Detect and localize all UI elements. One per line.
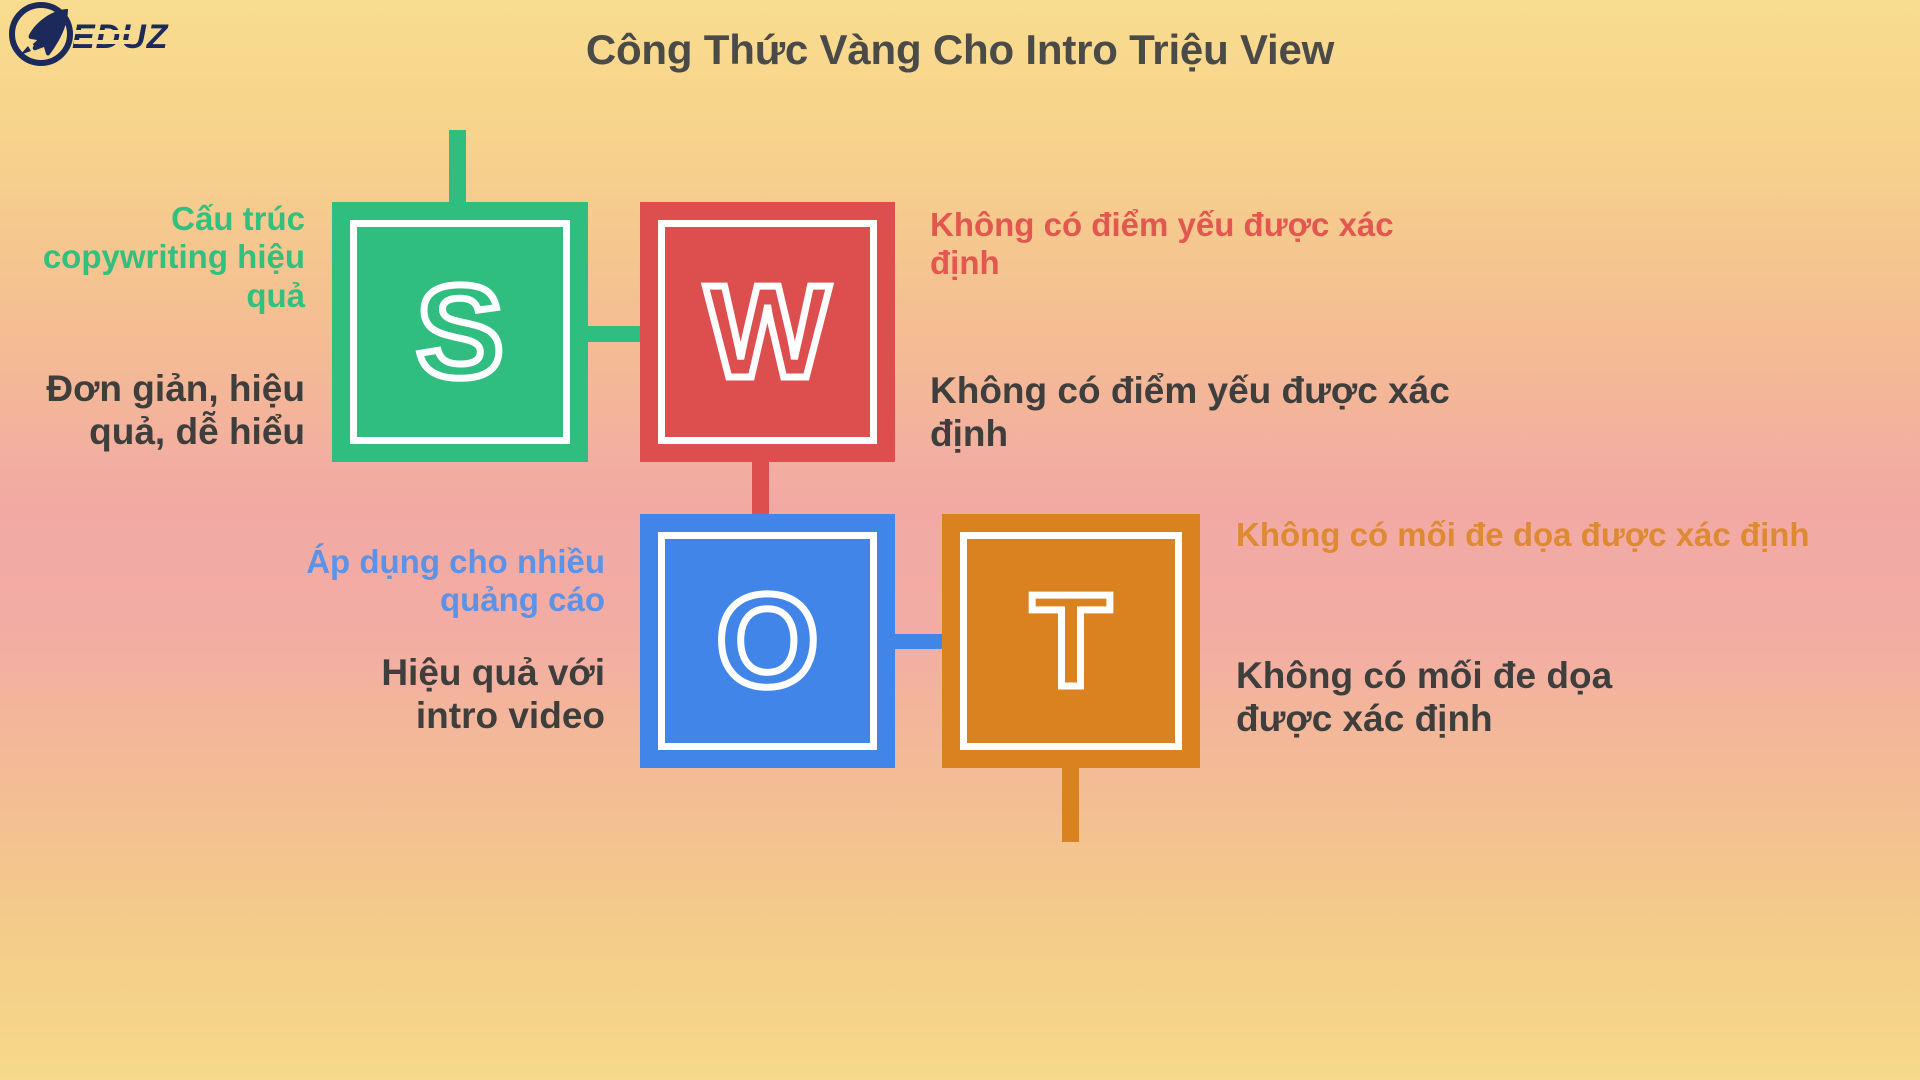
connector-top-stub <box>449 130 466 204</box>
threat-description: Không có mối đe dọa được xác định <box>1236 655 1656 741</box>
opportunity-accent-label: Áp dụng cho nhiều quảng cáo <box>300 543 605 620</box>
page-title: Công Thức Vàng Cho Intro Triệu View <box>0 26 1920 74</box>
strength-accent-label: Cấu trúc copywriting hiệu quả <box>20 200 305 315</box>
connector-bottom-stub <box>1062 762 1079 842</box>
connector-weakness-to-opportunity <box>752 455 769 521</box>
swot-letter-w: W <box>705 266 830 398</box>
swot-box-opportunity[interactable]: O <box>640 514 895 768</box>
swot-letter-s: S <box>416 266 504 398</box>
weakness-description: Không có điểm yếu được xác định <box>930 370 1450 456</box>
swot-letter-o: O <box>716 575 819 707</box>
swot-box-weakness[interactable]: W <box>640 202 895 462</box>
swot-box-threat[interactable]: T <box>942 514 1200 768</box>
opportunity-description: Hiệu quả với intro video <box>300 652 605 738</box>
threat-accent-label: Không có mối đe dọa được xác định <box>1236 516 1836 554</box>
swot-box-strength[interactable]: S <box>332 202 588 462</box>
swot-letter-t: T <box>1031 575 1112 707</box>
strength-description: Đơn giản, hiệu quả, dễ hiểu <box>0 368 305 454</box>
weakness-accent-label: Không có điểm yếu được xác định <box>930 206 1450 283</box>
